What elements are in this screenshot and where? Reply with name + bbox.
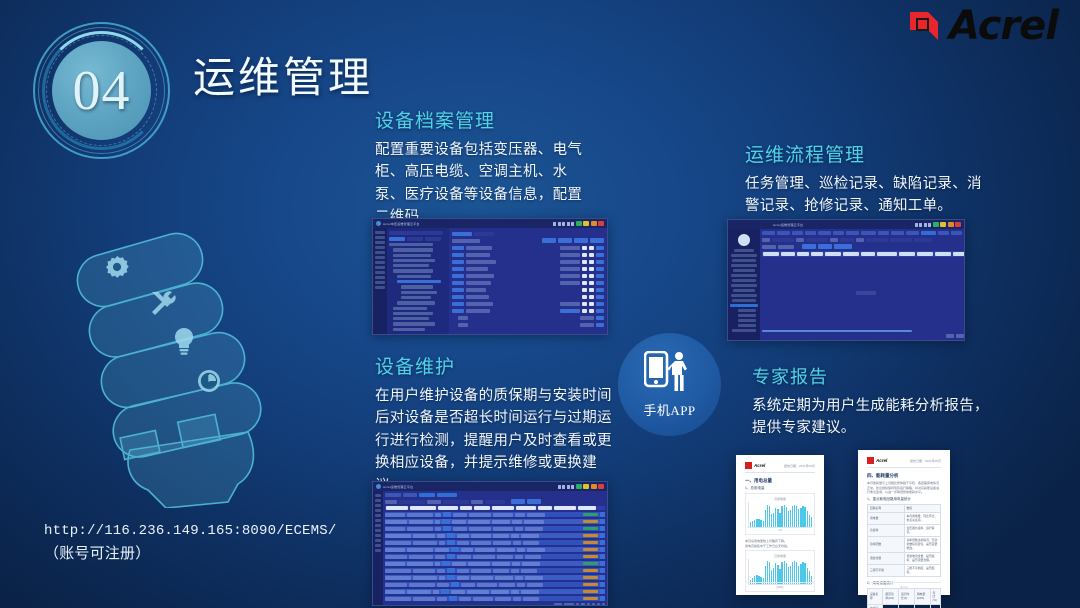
expert-analysis-page[interactable]: Acrel 报告日期：2021年05月 四、能耗量分析 本月能耗量与上月相比整体…: [858, 450, 950, 595]
table-header: [762, 251, 965, 257]
menu-bar[interactable]: [762, 231, 965, 235]
rail-item[interactable]: [375, 276, 385, 279]
chart-bar: [811, 517, 812, 527]
table-cell: 三相不平衡度、是否超标。: [904, 564, 941, 576]
archive-row[interactable]: [452, 259, 604, 264]
table-cell: 186.5: [899, 604, 915, 608]
rail-item[interactable]: [375, 266, 385, 269]
screenshot-titlebar: Acrel运维管理云平台: [728, 220, 964, 229]
status-chip-green: [576, 484, 582, 489]
table-row: 谐波含量谐波电流含量、是否超标、是否需要治理。: [868, 552, 941, 564]
toolbar-dot-icon: [558, 485, 561, 489]
rail-item[interactable]: [375, 236, 385, 239]
nav-item[interactable]: [731, 274, 757, 277]
table-cell: 中央空调主机: [868, 604, 883, 608]
rail-item[interactable]: [375, 549, 381, 552]
rail-item[interactable]: [375, 281, 385, 284]
table-cell: 回路名称: [868, 504, 905, 512]
report-header: Acrel 报告日期：2021年05月: [745, 462, 815, 473]
table-row[interactable]: [385, 519, 605, 524]
table-row[interactable]: [385, 512, 605, 517]
screenshot-title: Acrel中压运维管理云平台: [383, 222, 420, 226]
toolbar-dot-icon: [558, 222, 561, 226]
chart-bar: [779, 513, 780, 527]
nav-item[interactable]: [731, 294, 757, 297]
chart-bar: [802, 506, 803, 527]
table-row[interactable]: [385, 582, 605, 587]
nav-subitem[interactable]: [738, 314, 756, 317]
export-button[interactable]: [834, 244, 852, 249]
table-row[interactable]: [385, 547, 605, 552]
mobile-app-badge[interactable]: 手机APP: [618, 333, 721, 436]
chart-bar: [758, 519, 759, 527]
rail-item[interactable]: [375, 241, 385, 244]
table-row: 负载率变压器负载率、运行情况。: [868, 524, 941, 536]
chart-bar: [769, 562, 770, 584]
clock-icon: [198, 370, 220, 392]
chart-bar: [792, 562, 793, 584]
table-row[interactable]: [385, 568, 605, 573]
tree-node[interactable]: [401, 291, 437, 294]
table-row[interactable]: [385, 575, 605, 580]
chart-bar: [781, 562, 782, 584]
table-header: [385, 506, 605, 510]
table-cell: 谐波含量: [868, 552, 905, 564]
table-row[interactable]: [385, 540, 605, 545]
icon-rail[interactable]: [373, 491, 383, 605]
block-ops-process: 运维流程管理 任务管理、巡检记录、缺陷记录、消警记录、抢修记录、通知工单。: [745, 140, 995, 218]
table-row: 功率因数功率因数达标情况、无功补偿投切建议、是否需要整改。: [868, 536, 941, 552]
status-chip-yellow: [940, 222, 946, 227]
chart-bar: [796, 506, 797, 527]
chart-bar: [786, 563, 787, 584]
maintenance-screenshot[interactable]: Acrel运维管理云平台: [372, 481, 608, 606]
monthly-usage-chart: 月用电量 日期: [745, 493, 815, 535]
nav-item[interactable]: [732, 329, 756, 332]
tree-node-selected[interactable]: [397, 280, 441, 283]
section-number: 04: [52, 41, 151, 140]
report-brand: Acrel: [876, 458, 887, 463]
table-row[interactable]: [385, 554, 605, 559]
acrel-logo: Acrel: [906, 8, 1058, 44]
chart-bar: [754, 520, 755, 527]
toolbar-dot-icon: [571, 222, 574, 226]
toolbar-dot-icon: [567, 485, 570, 489]
status-chip-green: [933, 222, 939, 227]
icon-rail[interactable]: [373, 228, 387, 334]
table-row[interactable]: [385, 561, 605, 566]
table-cell: 功率因数: [868, 536, 905, 552]
rail-item[interactable]: [375, 519, 381, 522]
mobile-phone-person-icon: [644, 351, 696, 398]
chart-bar: [775, 563, 776, 584]
table-cell: 数值: [904, 504, 941, 512]
screenshot-titlebar: Acrel运维管理云平台: [373, 482, 607, 491]
chart-bar: [807, 511, 808, 527]
chart-xlabel: 日期: [748, 529, 812, 532]
table-cell: 变压器负载率、运行情况。: [904, 524, 941, 536]
tree-tabs[interactable]: [389, 237, 447, 241]
chart-bar: [790, 510, 791, 527]
nav-item[interactable]: [733, 269, 755, 272]
report-logo: Acrel: [867, 457, 887, 464]
horizontal-scrollbar[interactable]: [762, 329, 965, 332]
nav-item[interactable]: [731, 264, 757, 267]
section-number-badge: 04: [33, 22, 170, 159]
status-chip-red: [598, 221, 604, 226]
table-row[interactable]: [385, 533, 605, 538]
archive-row[interactable]: [452, 266, 604, 271]
rail-item[interactable]: [375, 534, 381, 537]
tree-node[interactable]: [393, 264, 429, 267]
chart-bars: [748, 502, 812, 528]
toolbar-dot-icon: [924, 223, 927, 227]
chart-bar: [781, 506, 782, 527]
maintenance-table-panel[interactable]: [383, 491, 607, 605]
toolbar-dot-icon: [553, 222, 556, 226]
tree-node[interactable]: [393, 322, 435, 325]
status-chip-yellow: [583, 221, 589, 226]
archive-row[interactable]: [452, 280, 604, 285]
app-logo-icon: [376, 221, 381, 226]
status-chip-red: [955, 222, 961, 227]
chart-bar: [756, 519, 757, 527]
tree-node[interactable]: [393, 269, 433, 272]
chart-bar: [798, 509, 799, 527]
tab-bar[interactable]: [385, 493, 605, 497]
toolbar-dot-icon: [562, 485, 565, 489]
status-chip-orange: [948, 222, 954, 227]
process-screenshot[interactable]: Acrel运维管理云平台: [727, 219, 965, 341]
toolbar-dot-icon: [915, 223, 918, 227]
nav-subitem[interactable]: [738, 309, 756, 312]
pagination[interactable]: [385, 603, 605, 606]
toolbar-dot-icon: [928, 223, 931, 227]
tree-node[interactable]: [393, 317, 429, 320]
block-body: 任务管理、巡检记录、缺陷记录、消警记录、抢修记录、通知工单。: [745, 173, 995, 218]
archive-screenshot[interactable]: Acrel中压运维管理云平台: [372, 218, 608, 335]
acrel-wordmark: Acrel: [949, 8, 1058, 44]
chart-bar: [809, 515, 810, 527]
tree-node[interactable]: [401, 285, 433, 288]
portal-url-note: （账号可注册）: [44, 542, 336, 566]
nav-item[interactable]: [732, 299, 756, 302]
action-bar[interactable]: [762, 244, 965, 249]
nav-subitem[interactable]: [738, 324, 756, 327]
panel-toolbar[interactable]: [452, 238, 604, 243]
tree-node[interactable]: [397, 275, 431, 278]
panel-tabs[interactable]: [452, 231, 604, 236]
rail-item[interactable]: [375, 529, 381, 532]
chart-bar: [760, 520, 761, 527]
chart-bar: [750, 522, 751, 527]
report-footer: 第 4 页: [867, 582, 941, 589]
avatar: [738, 234, 750, 246]
rail-item[interactable]: [375, 256, 385, 259]
table-row: 用电量本月用电量、同比环比、重点关注项。: [868, 512, 941, 524]
chart-bar: [769, 506, 770, 527]
report-header: Acrel 报告日期：2021年05月: [867, 457, 941, 468]
circuit-table: 回路名称数值用电量本月用电量、同比环比、重点关注项。负载率变压器负载率、运行情况…: [867, 504, 941, 577]
archive-row[interactable]: [452, 294, 604, 299]
table-cell: 用电量: [868, 512, 905, 524]
portal-url-block: http://116.236.149.165:8090/ECEMS/ （账号可注…: [44, 520, 336, 566]
screenshot-body: [373, 491, 607, 605]
status-chip-orange: [591, 221, 597, 226]
lightbulb-illustration: [62, 218, 267, 508]
table-row[interactable]: [385, 526, 605, 531]
screenshot-body: [728, 229, 964, 340]
rail-item[interactable]: [375, 544, 381, 547]
titlebar-icons: [553, 221, 604, 226]
titlebar-icons: [558, 484, 605, 489]
status-chip-orange: [591, 484, 597, 489]
chart-bar: [804, 563, 805, 584]
chart-bar: [794, 561, 795, 584]
table-cell: 负载率: [868, 524, 905, 536]
archive-row[interactable]: [452, 287, 604, 292]
table-cell: 额定功率(kW): [883, 588, 899, 604]
archive-row[interactable]: [452, 301, 604, 306]
archive-row[interactable]: [452, 308, 604, 313]
toolbar-button[interactable]: [590, 238, 604, 243]
toolbar-dot-icon: [571, 485, 574, 489]
report-paragraph: 本月能耗量与上月相比整体趋于平稳，各回路用电情况正常。建议继续保持现有运行策略，…: [867, 481, 941, 495]
table-cell: 本月用电量、同比环比、重点关注项。: [904, 512, 941, 524]
rail-item[interactable]: [375, 514, 381, 517]
acrel-mark-icon: [745, 462, 752, 469]
chart-bar: [792, 506, 793, 527]
page-title: 运维管理: [193, 44, 373, 105]
table-cell: 设备名称: [868, 588, 883, 604]
screenshot-title: Acrel运维管理云平台: [383, 485, 413, 489]
app-logo-icon: [376, 484, 381, 489]
rail-item[interactable]: [375, 539, 381, 542]
toolbar-dot-icon: [919, 223, 922, 227]
equipment-table: 设备名称额定功率(kW)运行时长(h)用电量(kWh)占比(%)中央空调主机32…: [867, 588, 941, 608]
block-body: 系统定期为用户生成能耗分析报告，提供专家建议。: [752, 395, 1002, 440]
chart-bar: [765, 510, 766, 527]
table-cell: 谐波电流含量、是否超标、是否需要治理。: [904, 552, 941, 564]
block-equipment-maintenance: 设备维护 在用户维护设备的质保期与安装时间后对设备是否超长时间运行与过期运行进行…: [375, 352, 613, 497]
tree-node[interactable]: [393, 254, 431, 257]
report-logo: Acrel: [745, 462, 765, 469]
table-cell: 运行时长(h): [899, 588, 915, 604]
archive-list-panel[interactable]: [449, 228, 607, 334]
chart-bar: [804, 507, 805, 527]
table-row[interactable]: [385, 596, 605, 601]
chart-title: 日用电量: [748, 554, 812, 558]
rail-item[interactable]: [375, 271, 385, 274]
block-heading: 运维流程管理: [745, 140, 995, 167]
tree-node[interactable]: [393, 312, 433, 315]
tree-node[interactable]: [393, 248, 433, 251]
search-button[interactable]: [802, 244, 816, 249]
rail-item[interactable]: [375, 261, 385, 264]
screenshot-titlebar: Acrel中压运维管理云平台: [373, 219, 607, 228]
toolbar-dot-icon: [562, 222, 565, 226]
search-button[interactable]: [511, 499, 525, 504]
toolbar-dot-icon: [567, 222, 570, 226]
chart-bar: [786, 507, 787, 527]
archive-row[interactable]: [452, 252, 604, 257]
tree-node[interactable]: [393, 328, 425, 331]
table-cell: 占比(%): [930, 588, 940, 604]
nav-item[interactable]: [732, 279, 756, 282]
chart-bar: [800, 564, 801, 584]
archive-row[interactable]: [452, 273, 604, 278]
status-chip-red: [598, 484, 604, 489]
status-chip-yellow: [583, 484, 589, 489]
tree-node[interactable]: [397, 301, 435, 304]
device-tree-panel[interactable]: [387, 228, 449, 334]
rail-item[interactable]: [375, 231, 385, 234]
table-cell: 320: [883, 604, 899, 608]
block-expert-report: 专家报告 系统定期为用户生成能耗分析报告，提供专家建议。: [752, 363, 1002, 440]
titlebar-icons: [915, 222, 962, 227]
chart-bar: [777, 509, 778, 527]
rail-item[interactable]: [375, 494, 381, 497]
mobile-app-label: 手机APP: [643, 400, 695, 419]
toolbar-button[interactable]: [574, 238, 588, 243]
block-equipment-archive: 设备档案管理 配置重要设备包括变压器、电气柜、高压电缆、空调主机、水泵、医疗设备…: [375, 106, 590, 229]
tree-search[interactable]: [389, 231, 447, 235]
pagination[interactable]: [762, 334, 965, 338]
report-brand: Acrel: [754, 463, 765, 468]
energy-report-page[interactable]: Acrel 报告日期：2021年05月 一、用电总量 1、总用电量 月用电量 日…: [736, 455, 824, 595]
archive-row[interactable]: [452, 322, 604, 327]
table-cell: 21 330: [914, 604, 930, 608]
table-row: 回路名称数值: [868, 504, 941, 512]
table-row[interactable]: [385, 589, 605, 594]
archive-row[interactable]: [452, 245, 604, 250]
report-section-title: 一、用电总量: [745, 478, 815, 484]
rail-item[interactable]: [375, 509, 381, 512]
tree-node[interactable]: [393, 259, 435, 262]
report-meta: 报告日期：2021年05月: [910, 459, 941, 463]
rail-item[interactable]: [375, 499, 381, 502]
table-row: 设备名称额定功率(kW)运行时长(h)用电量(kWh)占比(%): [868, 588, 941, 604]
nav-item[interactable]: [733, 289, 755, 292]
block-body: 配置重要设备包括变压器、电气柜、高压电缆、空调主机、水泵、医疗设备等设备信息，配…: [375, 139, 590, 229]
reset-button[interactable]: [527, 499, 541, 504]
nav-item[interactable]: [731, 254, 757, 257]
screenshot-title: Acrel运维管理云平台: [773, 223, 803, 227]
nav-item[interactable]: [732, 259, 756, 262]
nav-subitem[interactable]: [738, 319, 756, 322]
filter-bar[interactable]: [385, 499, 605, 504]
block-heading: 设备维护: [375, 352, 613, 379]
rail-item[interactable]: [375, 246, 385, 249]
filter-bar[interactable]: [762, 237, 965, 242]
block-heading: 设备档案管理: [375, 106, 590, 133]
chart-bar: [775, 508, 776, 527]
report-subsection: 1、总用电量: [745, 486, 815, 491]
portal-url[interactable]: http://116.236.149.165:8090/ECEMS/: [44, 520, 336, 542]
slide-canvas: Acrel 04 运维管理: [0, 0, 1080, 608]
rail-item[interactable]: [375, 504, 381, 507]
table-row: 三相不平衡三相不平衡度、是否超标。: [868, 564, 941, 576]
process-table-panel[interactable]: [760, 229, 965, 340]
report-meta: 报告日期：2021年05月: [784, 464, 815, 468]
chart-bar: [771, 514, 772, 527]
nav-item-active[interactable]: [730, 304, 758, 307]
toolbar-button[interactable]: [558, 238, 572, 243]
acrel-mark-icon: [867, 457, 874, 464]
chart-bar: [796, 562, 797, 584]
rail-item[interactable]: [375, 524, 381, 527]
report-note: 用电高峰集中于工作日白天时段。: [745, 544, 815, 549]
chart-bar: [767, 561, 768, 584]
chart-bar: [784, 561, 785, 584]
table-cell: 三相不平衡: [868, 564, 905, 576]
tree-node[interactable]: [389, 243, 433, 246]
report-footer: 第 1 页: [745, 582, 815, 589]
table-cell: 38.6: [930, 604, 940, 608]
chart-bar: [802, 562, 803, 584]
rail-item[interactable]: [375, 286, 385, 289]
table-cell: 功率因数达标情况、无功补偿投切建议、是否需要整改。: [904, 536, 941, 552]
report-section-title: 四、能耗量分析: [867, 473, 941, 479]
reset-button[interactable]: [818, 244, 832, 249]
chart-bar: [788, 511, 789, 527]
chart-bar: [784, 505, 785, 527]
screenshot-body: [373, 228, 607, 334]
chart-bar: [794, 505, 795, 527]
nav-item[interactable]: [731, 284, 757, 287]
chart-title: 月用电量: [748, 497, 812, 501]
acrel-mark-icon: [906, 8, 942, 44]
archive-row[interactable]: [452, 315, 604, 320]
user-name: [734, 249, 754, 252]
tree-node[interactable]: [393, 307, 427, 310]
chart-bar: [752, 521, 753, 527]
chart-bar: [763, 521, 764, 527]
report-subsection: 1、重点耗电回路用电量统计: [867, 497, 941, 502]
chart-bar: [800, 508, 801, 527]
chart-bar: [767, 505, 768, 527]
toolbar-button[interactable]: [542, 238, 556, 243]
table-row: 中央空调主机320186.521 33038.6: [868, 604, 941, 608]
chart-bar: [773, 513, 774, 527]
tree-node[interactable]: [401, 296, 431, 299]
rail-item[interactable]: [375, 251, 385, 254]
empty-state: [762, 259, 965, 327]
block-heading: 专家报告: [752, 363, 1002, 389]
status-chip-green: [576, 221, 582, 226]
table-cell: 用电量(kWh): [914, 588, 930, 604]
nav-sidebar[interactable]: [728, 229, 760, 340]
